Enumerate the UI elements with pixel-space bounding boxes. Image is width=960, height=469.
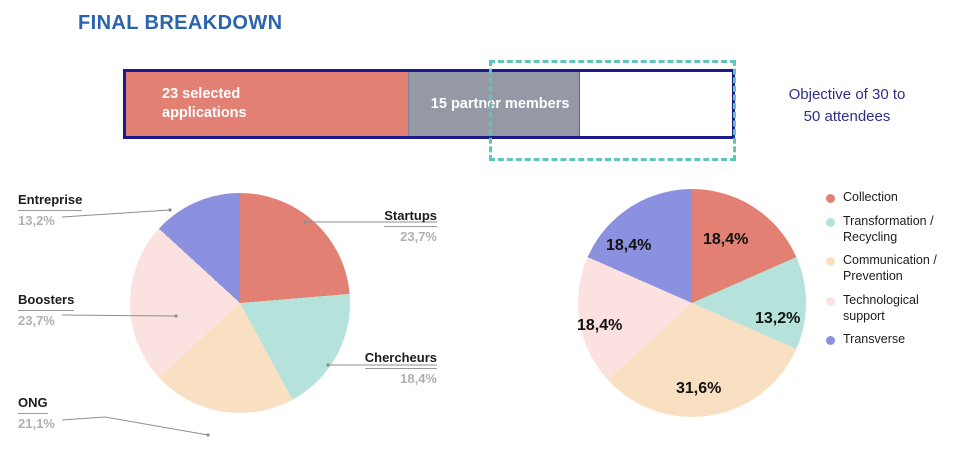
bar-segment-selected-applications: 23 selected applications (126, 72, 408, 136)
pct-label-transformation: 13,2% (755, 310, 800, 328)
leader-dot-ong (206, 433, 209, 436)
legend-label-communication-prevention: Communication / Prevention (843, 253, 952, 285)
progress-bar-figure: 23 selected applications 15 partner memb… (123, 69, 735, 139)
callout-chercheurs-label: Chercheurs (365, 350, 437, 369)
pct-label-communication: 31,6% (676, 380, 721, 398)
chart-legend: CollectionTransformation / RecyclingComm… (826, 190, 952, 356)
leader-dot-entreprise (168, 208, 171, 211)
callout-ong: ONG 21,1% (18, 395, 55, 433)
page-title: FINAL BREAKDOWN (78, 12, 283, 35)
bar-segment-partners-label: 15 partner members (431, 95, 570, 114)
pct-label-collection: 18,4% (703, 231, 748, 249)
callout-startups-value: 23,7% (300, 227, 437, 245)
callout-entreprise: Entreprise 13,2% (18, 192, 82, 230)
callout-ong-value: 21,1% (18, 414, 55, 432)
callout-boosters: Boosters 23,7% (18, 292, 74, 330)
pct-label-transverse: 18,4% (606, 237, 651, 255)
legend-swatch-transverse-icon (826, 336, 835, 345)
legend-label-transverse: Transverse (843, 332, 905, 348)
callout-startups-label: Startups (384, 208, 437, 227)
callout-ong-label: ONG (18, 395, 48, 414)
bar-segment-partner-members: 15 partner members (408, 72, 581, 136)
callout-chercheurs-value: 18,4% (300, 369, 437, 387)
objective-note-line1: Objective of 30 to (789, 86, 906, 103)
legend-label-transformation-recycling: Transformation / Recycling (843, 214, 952, 246)
callout-boosters-value: 23,7% (18, 311, 74, 329)
callout-boosters-label: Boosters (18, 292, 74, 311)
callout-chercheurs: Chercheurs 18,4% (300, 350, 437, 388)
legend-label-collection: Collection (843, 190, 898, 206)
legend-swatch-technological-support-icon (826, 297, 835, 306)
legend-swatch-collection-icon (826, 194, 835, 203)
bar-segment-selected-label: 23 selected applications (162, 85, 247, 122)
legend-swatch-communication-prevention-icon (826, 257, 835, 266)
bar-label-line1: 23 selected (162, 86, 240, 102)
legend-item-transverse[interactable]: Transverse (826, 332, 952, 348)
legend-item-technological-support[interactable]: Technological support (826, 293, 952, 325)
leader-line-ong (62, 417, 208, 435)
objective-note: Objective of 30 to 50 attendees (752, 84, 942, 128)
legend-item-communication-prevention[interactable]: Communication / Prevention (826, 253, 952, 285)
objective-note-line2: 50 attendees (804, 108, 891, 125)
bar-segment-remaining (580, 72, 732, 136)
callout-startups: Startups 23,7% (300, 208, 437, 246)
legend-label-technological-support: Technological support (843, 293, 952, 325)
pct-label-technological: 18,4% (577, 317, 622, 335)
legend-item-transformation-recycling[interactable]: Transformation / Recycling (826, 214, 952, 246)
legend-item-collection[interactable]: Collection (826, 190, 952, 206)
slide-canvas: FINAL BREAKDOWN 23 selected applications… (0, 0, 960, 469)
callout-entreprise-value: 13,2% (18, 211, 82, 229)
bar-label-line2: applications (162, 105, 247, 121)
callout-entreprise-label: Entreprise (18, 192, 82, 211)
legend-swatch-transformation-recycling-icon (826, 218, 835, 227)
